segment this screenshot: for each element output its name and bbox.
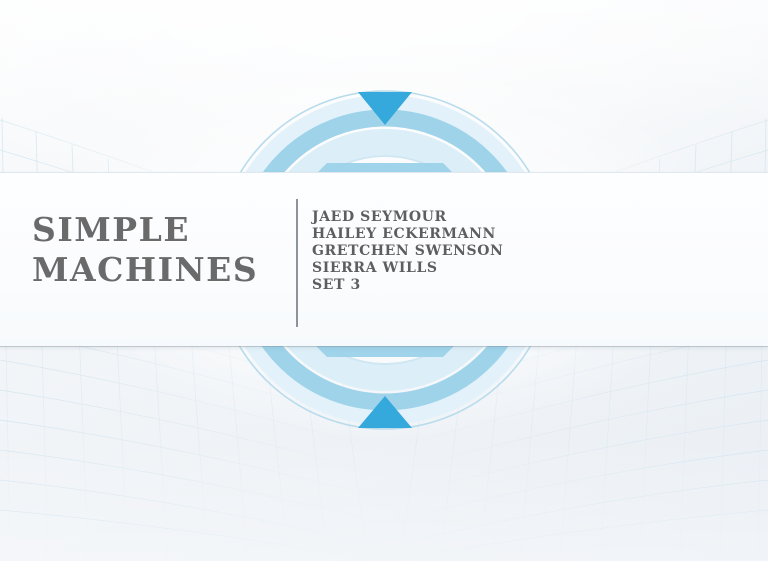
authors-list: JAED SEYMOUR HAILEY ECKERMANN GRETCHEN S… bbox=[312, 199, 503, 294]
list-item: SET 3 bbox=[312, 277, 503, 294]
triangle-down-marker bbox=[358, 92, 412, 125]
list-item: HAILEY ECKERMANN bbox=[312, 226, 503, 243]
list-item: GRETCHEN SWENSON bbox=[312, 243, 503, 260]
page-title: SIMPLE MACHINES bbox=[32, 210, 258, 290]
list-item: JAED SEYMOUR bbox=[312, 209, 503, 226]
title-line-2: MACHINES bbox=[32, 250, 258, 290]
authors-block: JAED SEYMOUR HAILEY ECKERMANN GRETCHEN S… bbox=[296, 199, 503, 327]
presentation-slide: SIMPLE MACHINES JAED SEYMOUR HAILEY ECKE… bbox=[0, 0, 768, 561]
band-top-edge bbox=[0, 172, 768, 173]
vertical-divider bbox=[296, 199, 298, 327]
title-line-1: SIMPLE bbox=[32, 210, 258, 250]
triangle-up-marker bbox=[358, 396, 412, 428]
list-item: SIERRA WILLS bbox=[312, 260, 503, 277]
